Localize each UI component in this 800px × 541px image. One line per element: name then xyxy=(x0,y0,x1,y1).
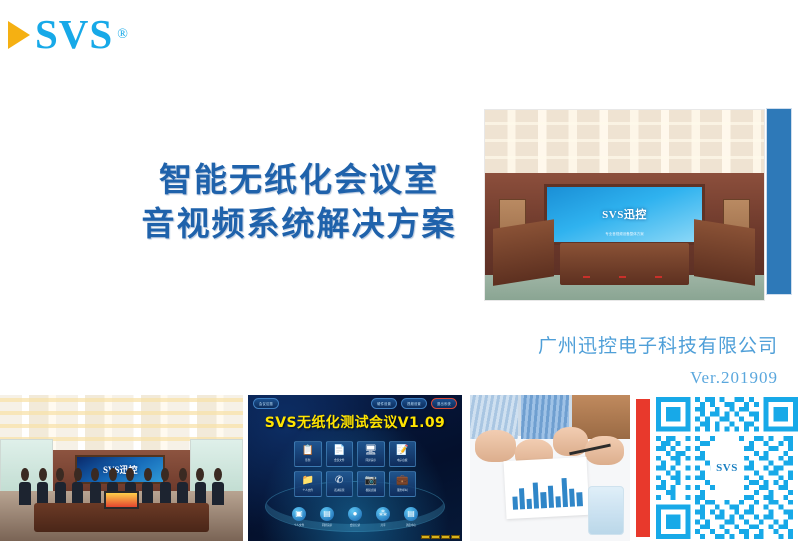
c2-dock-label: 会议记录 xyxy=(350,523,360,527)
c2-dock-label: 同屏演示 xyxy=(322,523,332,527)
hero-desk-terminal-2 xyxy=(619,276,626,278)
hero-screen-subtext: 专业音视频设备整体方案 xyxy=(547,232,703,237)
c2-dock-label: 共享 xyxy=(380,523,385,527)
brand-logo: SVS ® xyxy=(8,14,128,55)
hero-table-left-wing xyxy=(493,219,554,286)
c1-laptop xyxy=(104,491,138,509)
c1-person xyxy=(72,468,83,506)
document-icon: 📄 xyxy=(333,446,345,456)
c3-hand xyxy=(475,430,517,462)
hero-conference-room-image: SVS迅控 专业音视频设备整体方案 xyxy=(484,109,765,301)
c2-dock-record[interactable]: ● 会议记录 xyxy=(348,507,362,527)
c1-person xyxy=(142,468,153,506)
strip-qr-panel: SVS xyxy=(634,395,800,541)
hero-desk-terminal-1 xyxy=(583,276,590,278)
qr-center-label: SVS xyxy=(710,457,744,479)
title-line-2: 音视频系统解决方案 xyxy=(104,202,494,246)
clipboard-icon: 📋 xyxy=(302,446,314,456)
c2-app-label: 服务呼叫 xyxy=(397,488,407,492)
camera-icon: 📷 xyxy=(365,476,377,486)
folder-icon: 📁 xyxy=(302,476,314,486)
c2-app-label: 表决投票 xyxy=(334,488,344,492)
c2-hardware-settings-button[interactable]: 硬件设置 xyxy=(371,398,397,409)
c2-app-grid: 📋 签到 📄 会议文件 🖥 同屏演示 📝 电子白板 📁 个人文件 xyxy=(294,441,416,497)
c2-app-voting[interactable]: ✆ 表决投票 xyxy=(326,471,354,497)
c2-app-screen-share[interactable]: 🖥 同屏演示 xyxy=(357,441,385,467)
c1-person xyxy=(37,468,48,506)
c2-topbar: 会议议题 硬件设置 视频设置 退出系统 xyxy=(248,395,462,411)
right-accent-bar xyxy=(766,108,792,295)
strip-image-paperless-software: 会议议题 硬件设置 视频设置 退出系统 SVS无纸化测试会议V1.09 📋 签到… xyxy=(248,395,462,541)
strip-image-business-discussion xyxy=(470,395,630,541)
registered-trademark-icon: ® xyxy=(117,27,128,43)
c2-dock-screen-share[interactable]: ▤ 同屏演示 xyxy=(320,507,334,527)
c2-video-settings-button[interactable]: 视频设置 xyxy=(401,398,427,409)
bottom-image-strip: SVS迅控 会议议题 xyxy=(0,395,800,541)
c1-person xyxy=(160,468,171,506)
briefcase-icon: 💼 xyxy=(396,476,408,486)
c2-app-signin[interactable]: 📋 签到 xyxy=(294,441,322,467)
c3-bar-chart xyxy=(511,474,582,510)
c2-dock-label: 个人文件 xyxy=(294,523,304,527)
c2-dock: ▣ 个人文件 ▤ 同屏演示 ● 会议记录 ⁂ 共享 ▤ 消息中心 xyxy=(248,507,462,527)
monitor-icon: 🖥 xyxy=(364,446,377,456)
c1-person xyxy=(195,468,206,506)
c1-person xyxy=(90,468,101,506)
qr-code[interactable]: SVS xyxy=(656,397,798,539)
version-label: Ver.201909 xyxy=(690,368,778,388)
slide-root: SVS ® 智能无纸化会议室 音视频系统解决方案 SVS迅控 专业音视频设备整体… xyxy=(0,0,800,541)
c2-app-video[interactable]: 📷 视频点播 xyxy=(357,471,385,497)
c2-app-whiteboard[interactable]: 📝 电子白板 xyxy=(389,441,417,467)
c3-chart-document xyxy=(504,457,590,520)
page-title: 智能无纸化会议室 音视频系统解决方案 xyxy=(104,158,494,245)
hero-ceiling xyxy=(485,110,764,173)
record-icon: ● xyxy=(348,507,362,521)
c2-status-bar xyxy=(421,535,460,539)
message-icon: ▤ xyxy=(404,507,418,521)
c1-person xyxy=(55,468,66,506)
note-icon: 📝 xyxy=(396,446,408,456)
vote-icon: ✆ xyxy=(335,476,343,486)
title-line-1: 智能无纸化会议室 xyxy=(104,158,494,202)
c2-app-label: 个人文件 xyxy=(303,488,313,492)
c2-app-meeting-files[interactable]: 📄 会议文件 xyxy=(326,441,354,467)
c2-app-label: 视频点播 xyxy=(366,488,376,492)
c2-exit-button[interactable]: 退出系统 xyxy=(431,398,457,409)
c2-app-label: 电子白板 xyxy=(397,458,407,462)
c2-status-cell xyxy=(421,535,430,539)
c2-dock-messages[interactable]: ▤ 消息中心 xyxy=(404,507,418,527)
c1-person xyxy=(212,468,223,506)
company-name: 广州迅控电子科技有限公司 xyxy=(538,331,778,358)
c1-person xyxy=(19,468,30,506)
hero-conference-table xyxy=(560,243,688,285)
hero-desk-terminal-3 xyxy=(655,276,662,278)
hero-led-screen: SVS迅控 专业音视频设备整体方案 xyxy=(544,184,706,245)
share-icon: ⁂ xyxy=(376,507,390,521)
logo-triangle-icon xyxy=(8,21,30,49)
c3-water-glass xyxy=(588,486,623,536)
c2-topbar-right-group: 硬件设置 视频设置 退出系统 xyxy=(371,398,457,409)
c2-app-service-call[interactable]: 💼 服务呼叫 xyxy=(389,471,417,497)
c2-app-label: 同屏演示 xyxy=(366,458,376,462)
hero-screen-text: SVS迅控 xyxy=(602,206,647,222)
c2-dock-share[interactable]: ⁂ 共享 xyxy=(376,507,390,527)
logo-wordmark: SVS xyxy=(35,14,113,55)
c2-dock-personal-files[interactable]: ▣ 个人文件 xyxy=(292,507,306,527)
c2-app-label: 会议文件 xyxy=(334,458,344,462)
c2-status-cell xyxy=(441,535,450,539)
red-accent-bar xyxy=(636,399,650,537)
c2-app-title: SVS无纸化测试会议V1.09 xyxy=(248,412,462,432)
c2-status-cell xyxy=(431,535,440,539)
c2-dock-label: 消息中心 xyxy=(406,523,416,527)
c1-person xyxy=(177,468,188,506)
c2-app-personal-files[interactable]: 📁 个人文件 xyxy=(294,471,322,497)
c2-app-label: 签到 xyxy=(305,458,310,462)
c2-topic-button[interactable]: 会议议题 xyxy=(253,398,279,409)
file-icon: ▣ xyxy=(292,507,306,521)
screen-icon: ▤ xyxy=(320,507,334,521)
strip-image-meeting-room: SVS迅控 xyxy=(0,395,243,541)
c2-status-cell xyxy=(451,535,460,539)
hero-table-right-wing xyxy=(694,219,755,286)
